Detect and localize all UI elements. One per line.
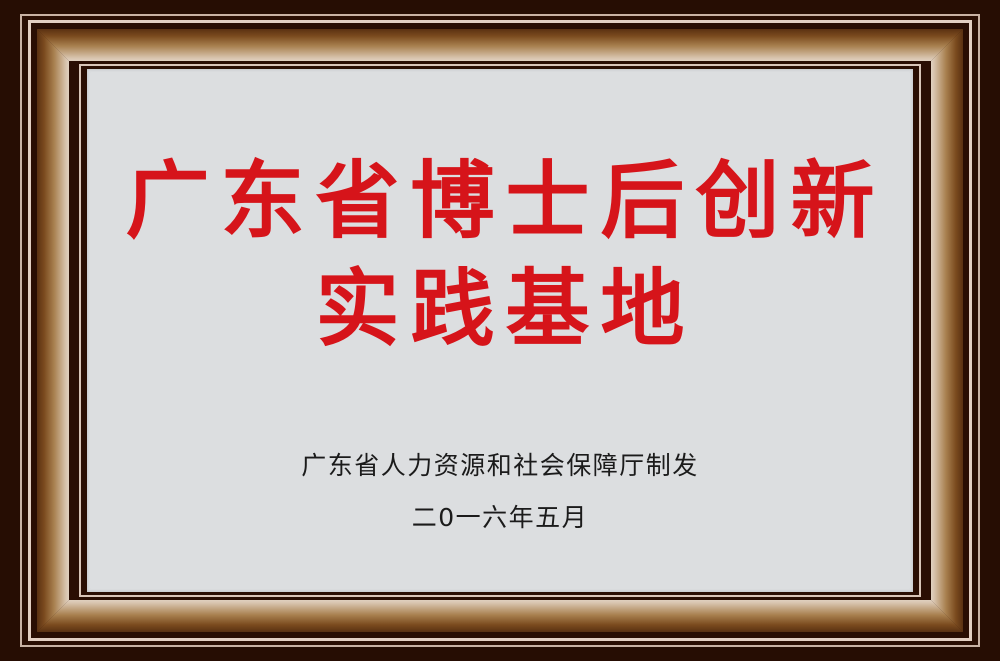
issue-date: 二0一六年五月 [87,492,913,544]
issuing-authority: 广东省人力资源和社会保障厅制发 [87,440,913,492]
certificate-panel: 广东省博士后创新 实践基地 广东省人力资源和社会保障厅制发 二0一六年五月 [87,69,913,592]
plaque-title: 广东省博士后创新 实践基地 [87,147,913,363]
plaque-title-line-2: 实践基地 [87,255,913,363]
issuer-block: 广东省人力资源和社会保障厅制发 二0一六年五月 [87,440,913,544]
award-plaque: 广东省博士后创新 实践基地 广东省人力资源和社会保障厅制发 二0一六年五月 [0,0,1000,661]
plaque-title-line-1: 广东省博士后创新 [87,147,913,255]
